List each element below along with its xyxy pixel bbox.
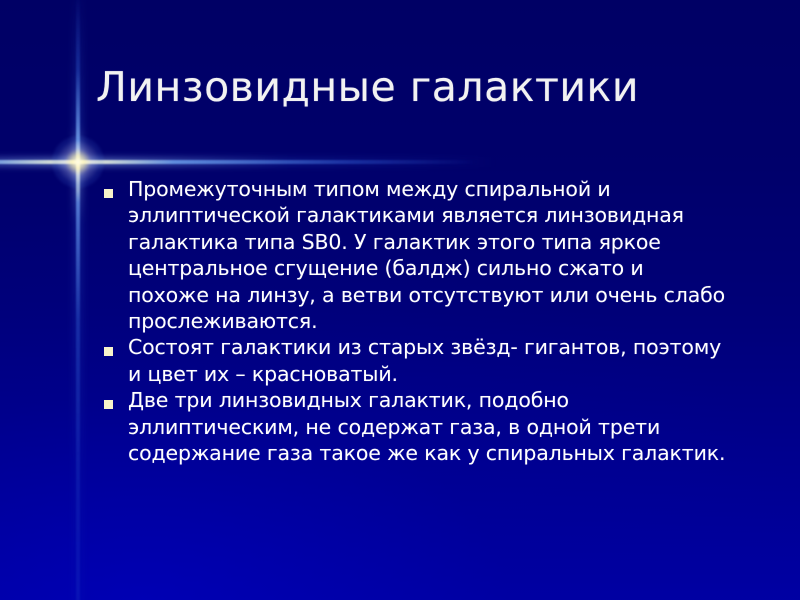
flare-vertical-glow	[73, 0, 83, 600]
square-bullet-icon	[104, 189, 113, 198]
bullet-item: Две три линзовидных галактик, подобно эл…	[100, 387, 726, 466]
presentation-slide: Линзовидные галактики Промежуточным типо…	[0, 0, 800, 600]
flare-horizontal-beam	[0, 160, 478, 164]
square-bullet-icon	[104, 347, 113, 356]
bullet-text: Две три линзовидных галактик, подобно эл…	[128, 387, 726, 466]
slide-title: Линзовидные галактики	[96, 62, 756, 112]
bullet-item: Промежуточным типом между спиральной и э…	[100, 176, 726, 334]
flare-core	[52, 136, 104, 188]
bullet-item: Состоят галактики из старых звёзд- гиган…	[100, 334, 726, 387]
bullet-text: Состоят галактики из старых звёзд- гиган…	[128, 334, 726, 387]
flare-vertical-beam	[76, 0, 80, 600]
flare-horizontal-glow	[0, 157, 498, 167]
slide-body: Промежуточным типом между спиральной и э…	[100, 176, 726, 466]
bullet-text: Промежуточным типом между спиральной и э…	[128, 176, 726, 334]
square-bullet-icon	[104, 400, 113, 409]
